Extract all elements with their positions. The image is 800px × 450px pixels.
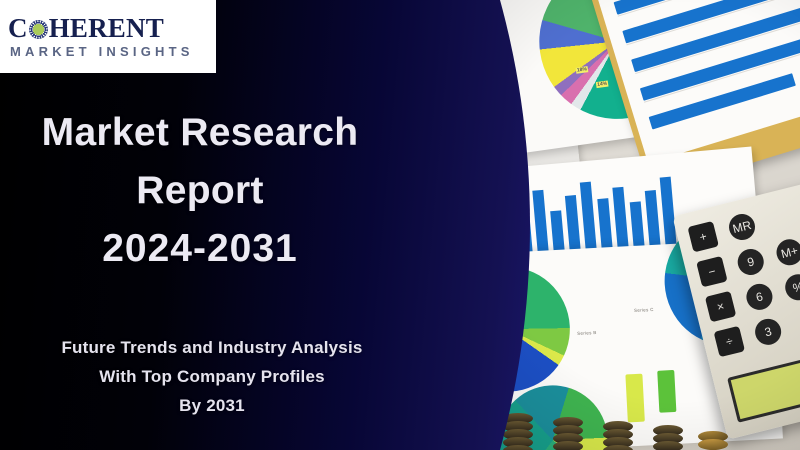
logo-tagline: MARKET INSIGHTS <box>10 44 194 59</box>
page-subtitle-line-3: By 2031 <box>0 391 424 420</box>
page-title-line-3: 2024-2031 <box>0 220 400 278</box>
page-subtitle-line-1: Future Trends and Industry Analysis <box>0 333 424 362</box>
logo-word-rest: HERENT <box>49 13 164 43</box>
coherent-market-insights-logo[interactable]: CHERENT MARKET INSIGHTS <box>0 0 216 73</box>
market-research-report-banner: LOCKBOX DATE 22 C 18% 14% 11% <box>0 0 800 450</box>
page-title-line-1: Market Research <box>0 104 400 162</box>
logo-wordmark: CHERENT <box>8 13 208 41</box>
logo-letter-c: C <box>8 13 28 43</box>
globe-dotted-icon <box>29 20 48 39</box>
page-title: Market Research Report 2024-2031 <box>0 104 400 278</box>
page-subtitle-line-2: With Top Company Profiles <box>0 362 424 391</box>
page-title-line-2: Report <box>0 162 400 220</box>
page-subtitle: Future Trends and Industry Analysis With… <box>0 333 424 420</box>
